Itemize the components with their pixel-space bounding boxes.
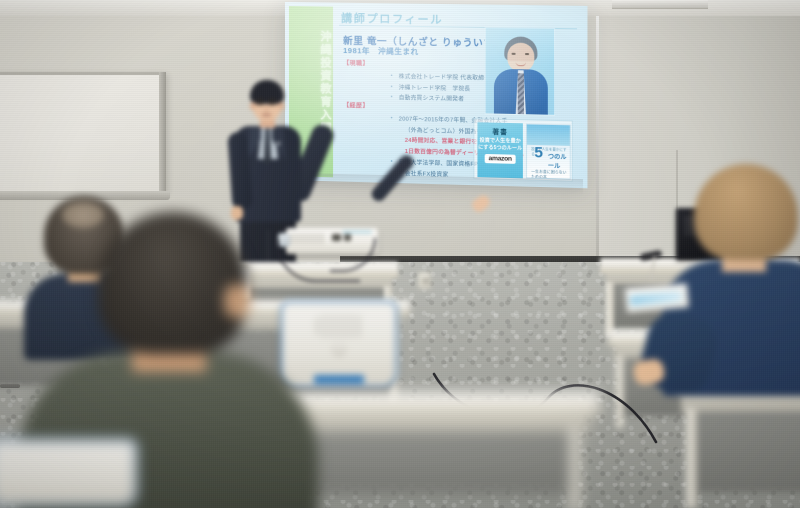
desk-front bbox=[270, 392, 600, 508]
desk-leg bbox=[570, 428, 580, 508]
book-cover-number: 5 bbox=[534, 145, 543, 161]
book-cover-word: つのルール bbox=[548, 151, 570, 170]
attendee-right bbox=[678, 164, 800, 394]
presenter-eye-right bbox=[269, 103, 275, 105]
attendee-ear bbox=[224, 284, 250, 318]
slide-section-a-list: 株式会社トレード学院 代表取締役 社長 沖縄トレード学院 学院長 自動売買システ… bbox=[349, 71, 504, 107]
presenter-eye-left bbox=[257, 103, 263, 105]
slide-book-block: 著書 投資で人生を豊かにする5つのルール amazon 投資で人生を豊かにする … bbox=[473, 118, 572, 182]
brochure-graphic bbox=[630, 291, 683, 306]
desk-leg bbox=[606, 282, 614, 336]
desk-front-panel bbox=[280, 414, 590, 432]
projector-top-sheen bbox=[342, 230, 372, 234]
attendee-head bbox=[694, 164, 798, 260]
presenter-ear-left bbox=[250, 102, 255, 110]
ceiling-vent bbox=[612, 0, 708, 9]
slide-section-b-label: 【経歴】 bbox=[343, 100, 369, 110]
desk-leg bbox=[686, 408, 697, 508]
slide-section-a-label: 【現職】 bbox=[343, 58, 369, 68]
chair-left-foreground bbox=[0, 438, 138, 508]
chair-trim bbox=[0, 438, 138, 508]
presenter-lapel-pin bbox=[277, 142, 280, 145]
slide-presenter-headshot bbox=[485, 27, 555, 116]
desk-top bbox=[270, 392, 600, 408]
slide-surface: 沖縄投資教育入門 講師プロフィール 新里 竜一（しんざと りゅういち） 1981… bbox=[285, 2, 587, 188]
whiteboard bbox=[0, 72, 166, 194]
outlet-slot bbox=[423, 277, 425, 285]
book-cover-thumbnail: 投資で人生を豊かにする 5 つのルール 一生お金に困らないための本 bbox=[526, 123, 571, 179]
book-section-label: 著書 bbox=[492, 126, 507, 137]
book-left-panel: 著書 投資で人生を豊かにする5つのルール amazon bbox=[477, 122, 522, 178]
desk-modesty-panel bbox=[290, 432, 580, 494]
headshot-tie bbox=[518, 73, 524, 114]
seminar-room-photo: 沖縄投資教育入門 講師プロフィール 新里 竜一（しんざと りゅういち） 1981… bbox=[0, 0, 800, 508]
book-cover-sky bbox=[527, 124, 570, 145]
outlet-slot bbox=[427, 277, 429, 285]
presenter-ear-right bbox=[279, 102, 284, 110]
chair-center bbox=[280, 300, 398, 388]
chair-trim bbox=[280, 300, 398, 388]
whiteboard-frame-edge bbox=[159, 72, 166, 196]
presenter-eyebrow-right bbox=[268, 99, 276, 101]
book-title: 投資で人生を豊かにする5つのルール bbox=[477, 138, 522, 153]
headshot-eye-right bbox=[525, 53, 529, 55]
desk-front-panel bbox=[681, 393, 800, 413]
slide-birth-line: 1981年 沖縄生まれ bbox=[343, 45, 419, 57]
power-outlet bbox=[418, 272, 431, 289]
headshot-eye-left bbox=[512, 53, 516, 55]
projection-screen: 沖縄投資教育入門 講師プロフィール 新里 竜一（しんざと りゅういち） 1981… bbox=[285, 2, 587, 188]
wall-corner-seam bbox=[596, 0, 599, 264]
presenter-nose bbox=[265, 107, 268, 112]
headshot-face bbox=[507, 43, 534, 72]
presenter-mouth bbox=[262, 114, 271, 116]
presenter-eyebrow-left bbox=[256, 99, 264, 101]
amazon-badge: amazon bbox=[484, 153, 515, 163]
desk-modesty-panel bbox=[687, 412, 800, 492]
attendee-head bbox=[98, 212, 248, 354]
